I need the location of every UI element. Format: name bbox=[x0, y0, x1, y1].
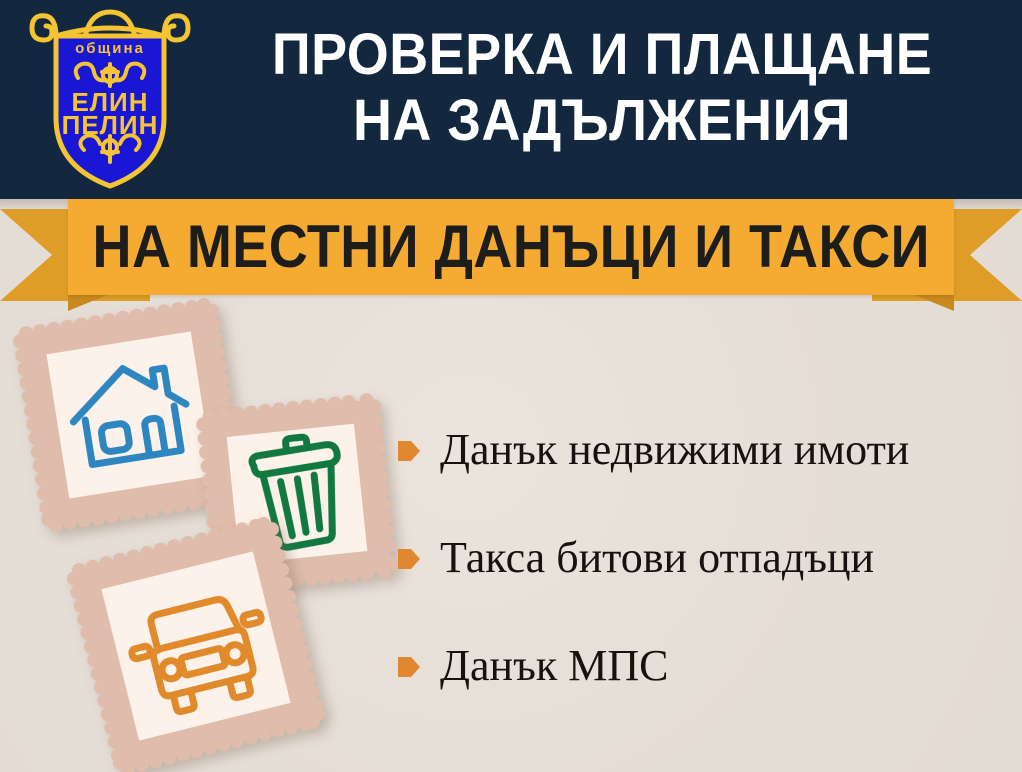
list-item-label: Данък недвижими имоти bbox=[440, 425, 909, 475]
header-bar: община ЕЛИН ПЕЛИН ПРОВЕРКА И ПЛАЩАНЕ НА … bbox=[0, 0, 1022, 199]
poster-canvas: община ЕЛИН ПЕЛИН ПРОВЕРКА И ПЛАЩАНЕ НА … bbox=[0, 0, 1022, 772]
list-item-label: Такса битови отпадъци bbox=[440, 533, 874, 583]
ribbon-label: НА МЕСТНИ ДАНЪЦИ И ТАКСИ bbox=[92, 217, 929, 277]
list-item[interactable]: Данък МПС bbox=[398, 636, 1018, 696]
page-title-line-2: НА ЗАДЪЛЖЕНИЯ bbox=[224, 88, 979, 154]
page-title: ПРОВЕРКА И ПЛАЩАНЕ НА ЗАДЪЛЖЕНИЯ bbox=[196, 22, 1008, 154]
list-item-label: Данък МПС bbox=[440, 641, 668, 691]
crest-label-obshtina: община bbox=[75, 40, 145, 57]
subtitle-ribbon: НА МЕСТНИ ДАНЪЦИ И ТАКСИ bbox=[0, 199, 1022, 311]
tax-type-list: Данък недвижими имоти Такса битови отпад… bbox=[398, 420, 1018, 744]
arrow-bullet-icon bbox=[398, 546, 420, 572]
list-item[interactable]: Данък недвижими имоти bbox=[398, 420, 1018, 480]
arrow-bullet-icon bbox=[398, 438, 420, 464]
arrow-bullet-icon bbox=[398, 654, 420, 680]
ribbon-face: НА МЕСТНИ ДАНЪЦИ И ТАКСИ bbox=[68, 199, 954, 295]
crest-label-pelin: ПЕЛИН bbox=[62, 110, 159, 140]
list-item[interactable]: Такса битови отпадъци bbox=[398, 528, 1018, 588]
municipality-crest: община ЕЛИН ПЕЛИН bbox=[26, 6, 194, 192]
page-title-line-1: ПРОВЕРКА И ПЛАЩАНЕ bbox=[224, 22, 979, 88]
